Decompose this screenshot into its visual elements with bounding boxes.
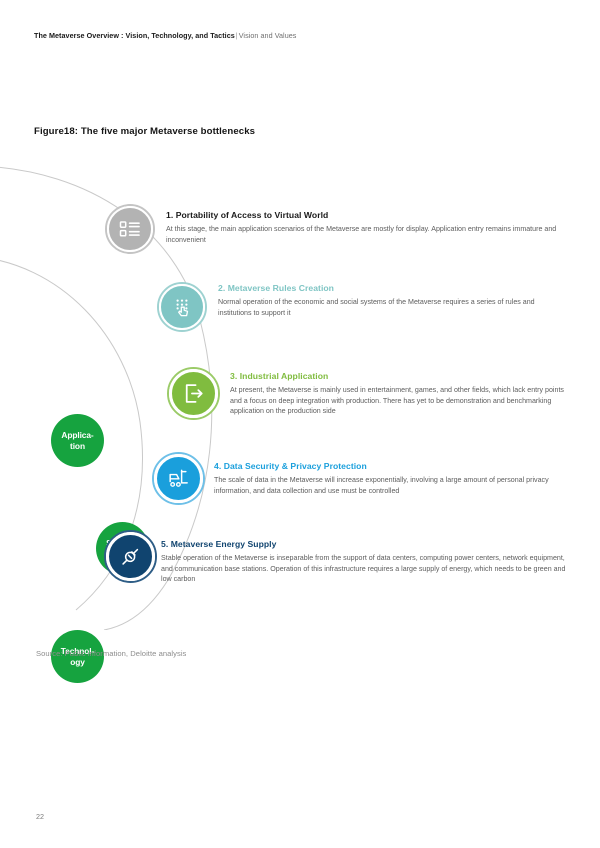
keypad-touch-icon [170, 295, 194, 319]
category-bubble-technology-line2: ogy [70, 657, 85, 667]
bottleneck-body-4: The scale of data in the Metaverse will … [214, 475, 564, 496]
bottleneck-block-2: 2. Metaverse Rules Creation Normal opera… [218, 283, 568, 318]
checklist-icon [118, 217, 142, 241]
bottleneck-heading-3: 3. Industrial Application [230, 371, 572, 381]
bottleneck-body-3: At present, the Metaverse is mainly used… [230, 385, 572, 417]
power-plug-icon [118, 544, 143, 569]
bottleneck-heading-2: 2. Metaverse Rules Creation [218, 283, 568, 293]
bottleneck-body-1: At this stage, the main application scen… [166, 224, 566, 245]
bottleneck-icon-2[interactable] [157, 282, 207, 332]
bottleneck-heading-1: 1. Portability of Access to Virtual Worl… [166, 210, 566, 220]
bottleneck-icon-4[interactable] [152, 452, 205, 505]
bottleneck-icon-5[interactable] [104, 530, 157, 583]
bottleneck-body-2: Normal operation of the economic and soc… [218, 297, 568, 318]
page-header-subtitle: Vision and Values [239, 31, 297, 40]
bottleneck-icon-3[interactable] [167, 367, 220, 420]
bottleneck-block-3: 3. Industrial Application At present, th… [230, 371, 572, 417]
bottleneck-heading-5: 5. Metaverse Energy Supply [161, 539, 569, 549]
bottleneck-block-4: 4. Data Security & Privacy Protection Th… [214, 461, 564, 496]
exit-door-icon [181, 381, 206, 406]
page-number: 22 [36, 812, 44, 821]
bottleneck-block-5: 5. Metaverse Energy Supply Stable operat… [161, 539, 569, 585]
category-bubble-application[interactable]: Applica- tion [51, 414, 104, 467]
category-bubble-application-line1: Applica- [61, 430, 93, 440]
page-header-title: The Metaverse Overview : Vision, Technol… [34, 31, 235, 40]
bottleneck-heading-4: 4. Data Security & Privacy Protection [214, 461, 564, 471]
source-note: Source: Public information, Deloitte ana… [36, 649, 186, 658]
page-header: The Metaverse Overview : Vision, Technol… [34, 31, 296, 40]
bottleneck-block-1: 1. Portability of Access to Virtual Worl… [166, 210, 566, 245]
bottleneck-icon-1[interactable] [105, 204, 155, 254]
forklift-icon [166, 466, 191, 491]
category-bubble-application-line2: tion [70, 441, 85, 451]
figure-title: Figure18: The five major Metaverse bottl… [34, 126, 255, 137]
bottleneck-body-5: Stable operation of the Metaverse is ins… [161, 553, 569, 585]
